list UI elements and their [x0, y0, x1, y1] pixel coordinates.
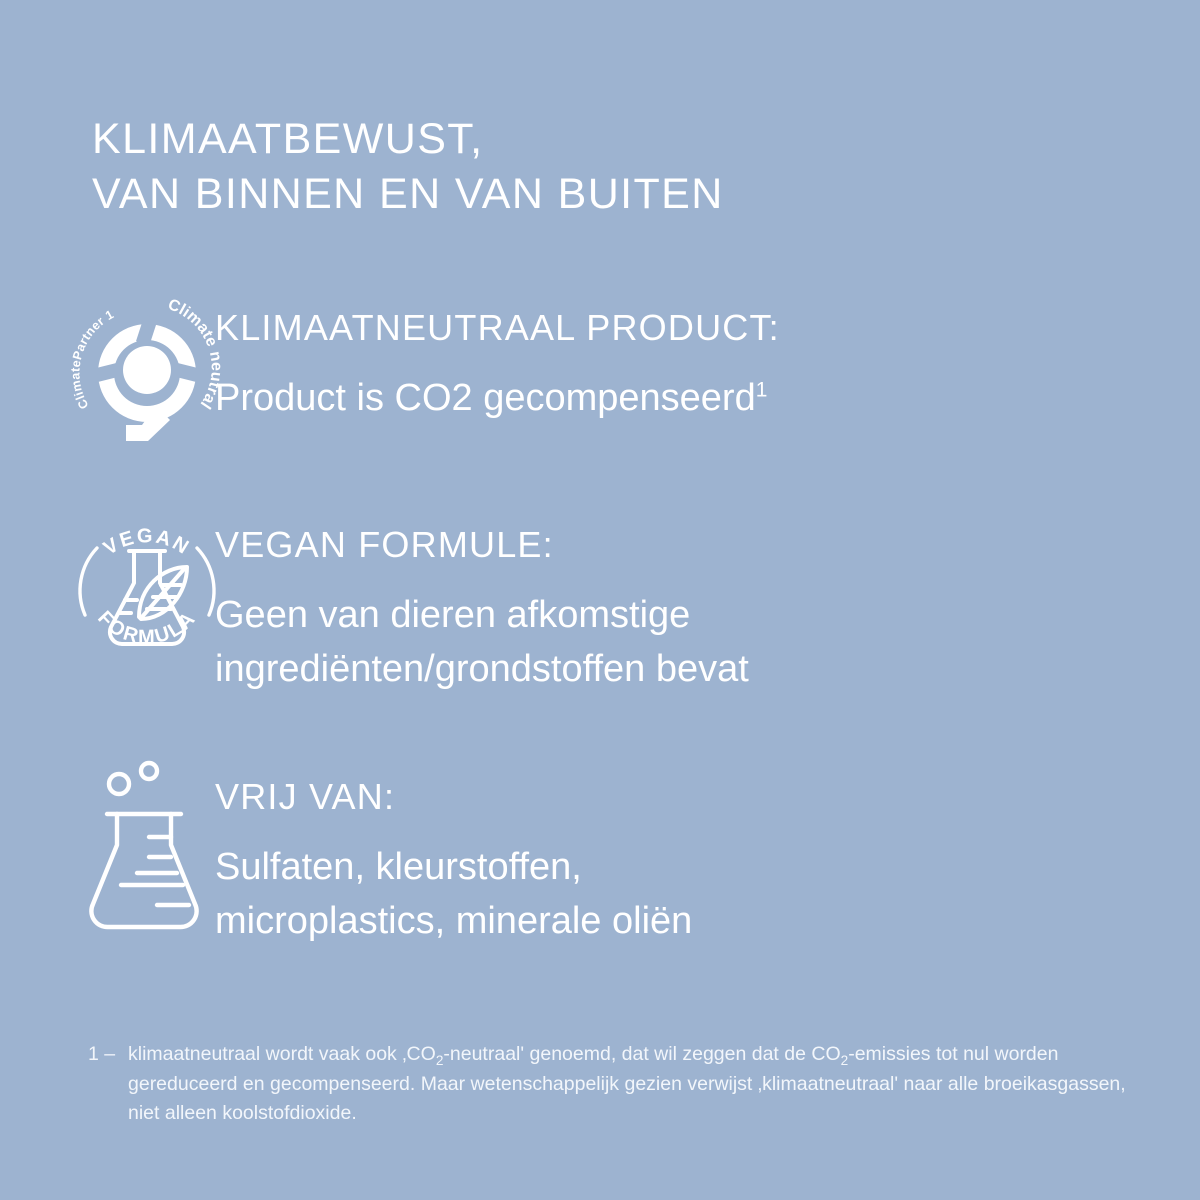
vegan-top-arc-text: VEGAN [99, 525, 193, 560]
feature-item-climate-neutral: ClimatePartner 14717-2005-1001 Climate n… [0, 288, 1200, 458]
footnote-part-1: klimaatneutraal wordt vaak ook ‚CO [128, 1043, 436, 1065]
feature-item-free-from: VRIJ VAN: Sulfaten, kleurstoffen, microp… [0, 757, 1200, 949]
free-from-text-cell: VRIJ VAN: Sulfaten, kleurstoffen, microp… [215, 757, 692, 949]
vegan-formula-flask-leaf-icon: VEGAN FORMULA [67, 505, 227, 680]
footnote: 1 – klimaatneutraal wordt vaak ook ‚CO2-… [88, 1040, 1128, 1129]
climate-neutral-text-cell: KLIMAATNEUTRAAL PRODUCT: Product is CO2 … [215, 288, 780, 426]
footnote-part-2: -neutraal' genoemd, dat wil zeggen dat d… [443, 1043, 840, 1065]
vegan-formula-icon-cell: VEGAN FORMULA [0, 505, 215, 680]
footnote-reference-1: 1 [756, 378, 768, 401]
vegan-formula-text-cell: VEGAN FORMULE: Geen van dieren afkomstig… [215, 505, 749, 697]
climate-neutral-icon-cell: ClimatePartner 14717-2005-1001 Climate n… [0, 288, 215, 458]
feature-title-climate-neutral: KLIMAATNEUTRAAL PRODUCT: [215, 310, 780, 346]
feature-title-free-from: VRIJ VAN: [215, 779, 692, 815]
feature-body-vegan-formula: Geen van dieren afkomstige ingrediënten/… [215, 589, 749, 697]
footnote-text: klimaatneutraal wordt vaak ook ‚CO2-neut… [128, 1040, 1128, 1129]
feature-body-text: Product is CO2 gecompenseerd [215, 377, 756, 419]
feature-title-vegan-formula: VEGAN FORMULE: [215, 527, 749, 563]
climate-neutral-certificate-icon: ClimatePartner 14717-2005-1001 Climate n… [62, 288, 232, 458]
promo-panel: KLIMAATBEWUST, VAN BINNEN EN VAN BUITEN [0, 0, 1200, 1200]
footnote-marker: 1 – [88, 1040, 128, 1129]
feature-body-free-from: Sulfaten, kleurstoffen, microplastics, m… [215, 841, 692, 949]
erlenmeyer-flask-icon [77, 757, 217, 942]
feature-item-vegan-formula: VEGAN FORMULA VEGAN FORMULE: Geen van di… [0, 505, 1200, 697]
page-headline: KLIMAATBEWUST, VAN BINNEN EN VAN BUITEN [92, 112, 1092, 222]
feature-body-climate-neutral: Product is CO2 gecompenseerd1 [215, 372, 780, 426]
free-from-icon-cell [0, 757, 215, 942]
